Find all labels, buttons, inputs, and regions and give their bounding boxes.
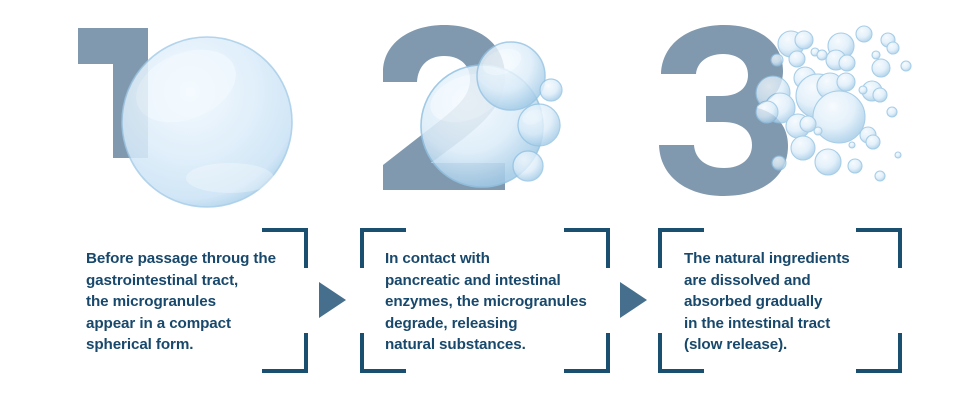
bubble-cluster-step-3 xyxy=(640,0,975,215)
bracket-corner-top-right-h xyxy=(564,228,610,232)
bubble-cluster-step-2 xyxy=(330,0,660,215)
bracket-corner-bottom-right-v xyxy=(304,333,308,373)
bracket-corner-bottom-right-h xyxy=(564,369,610,373)
step-3-graphic xyxy=(640,0,975,215)
bracket-corner-top-right-h xyxy=(856,228,902,232)
bubble-cluster-step-1 xyxy=(0,0,330,215)
step-1-graphic xyxy=(0,0,330,215)
step-3-caption-text: The natural ingredients are dissolved an… xyxy=(684,248,899,356)
step-2-caption-block: In contact with pancreatic and intestina… xyxy=(360,228,610,373)
bracket-corner-bottom-left-v xyxy=(360,333,364,373)
bracket-corner-bottom-right-h xyxy=(262,369,308,373)
arrow-step1-to-step2-icon xyxy=(319,282,346,318)
step-1-caption-block: Before passage throug the gastrointestin… xyxy=(68,228,308,373)
arrow-step2-to-step3-icon xyxy=(620,282,647,318)
bracket-corner-top-left-v xyxy=(658,228,662,268)
bracket-corner-bottom-left-h xyxy=(658,369,704,373)
bracket-corner-top-left-v xyxy=(360,228,364,268)
bracket-corner-top-left-h xyxy=(658,228,704,232)
bracket-corner-bottom-right-h xyxy=(856,369,902,373)
step-2-caption-text: In contact with pancreatic and intestina… xyxy=(385,248,610,356)
bracket-corner-bottom-left-h xyxy=(360,369,406,373)
step-1-caption-text: Before passage throug the gastrointestin… xyxy=(86,248,301,356)
step-3-caption-block: The natural ingredients are dissolved an… xyxy=(658,228,902,373)
bracket-corner-top-left-h xyxy=(360,228,406,232)
bracket-corner-top-right-v xyxy=(304,228,308,268)
bracket-corner-bottom-left-v xyxy=(658,333,662,373)
step-2-graphic xyxy=(330,0,660,215)
process-infographic: Before passage throug the gastrointestin… xyxy=(0,0,975,400)
bracket-corner-top-right-h xyxy=(262,228,308,232)
